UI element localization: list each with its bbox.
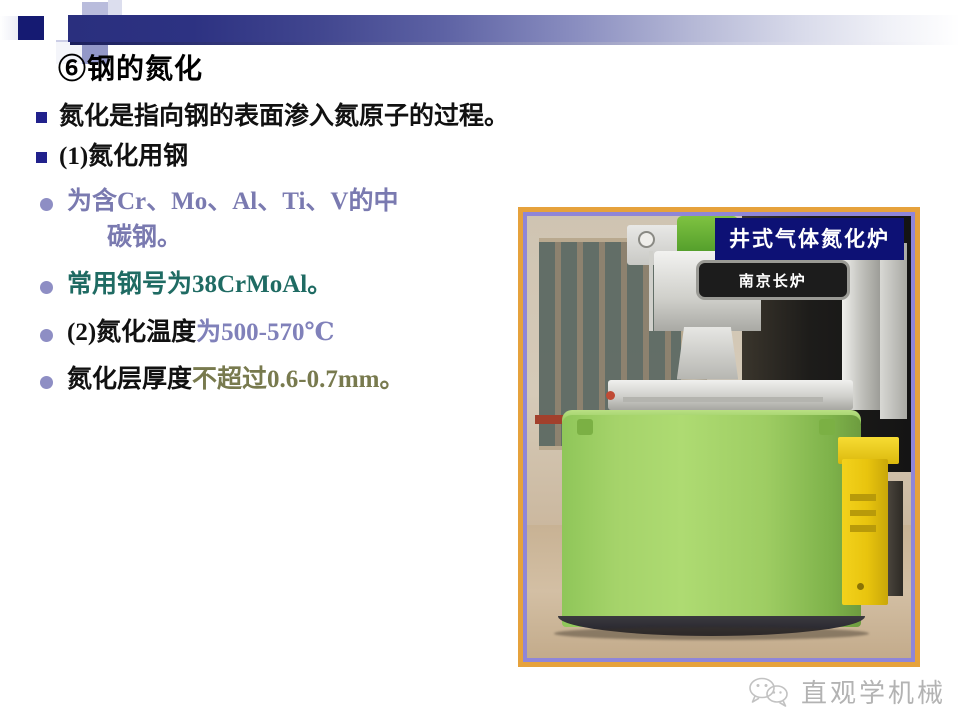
banner-gradient-bar — [68, 15, 960, 42]
bullet-text-5: (2)氮化温度为500-570℃ — [67, 315, 334, 351]
bullet-item-4: 常用钢号为38CrMoAl。 — [0, 267, 520, 303]
bullet-text-5-part-b: 为500-570℃ — [196, 319, 334, 346]
bullet-item-2: (1)氮化用钢 — [0, 139, 520, 175]
furnace-head-cone — [677, 327, 738, 380]
furnace-lid-arm — [623, 397, 823, 402]
pressure-gauge-stem — [649, 251, 653, 331]
cabinet-vent — [850, 494, 877, 500]
round-bullet-icon — [40, 376, 53, 389]
bullet-text-3-continuation: 碳钢。 — [107, 220, 520, 256]
wechat-bubbles-icon — [747, 675, 791, 709]
banner-square-gap — [44, 16, 68, 40]
slide-body: ⑥钢的氮化 氮化是指向钢的表面渗入氮原子的过程。 (1)氮化用钢 为含Cr、Mo… — [0, 52, 520, 398]
bullet-text-6: 氮化层厚度不超过0.6-0.7mm。 — [67, 362, 405, 398]
bullet-item-5: (2)氮化温度为500-570℃ — [0, 315, 520, 351]
machine-nameplate: 南京长炉 — [696, 260, 850, 300]
bullet-item-1: 氮化是指向钢的表面渗入氮原子的过程。 — [0, 99, 520, 135]
bullet-text-3: 为含Cr、Mo、Al、Ti、V的中 — [67, 184, 398, 220]
watermark-text: 直观学机械 — [801, 673, 946, 710]
bullet-text-2: (1)氮化用钢 — [59, 139, 188, 175]
round-bullet-icon — [40, 329, 53, 342]
watermark: 直观学机械 — [747, 673, 946, 710]
round-bullet-icon — [40, 198, 53, 211]
round-bullet-icon — [40, 281, 53, 294]
banner-square-fade — [0, 16, 18, 40]
bullet-text-4: 常用钢号为38CrMoAl。 — [67, 267, 332, 303]
furnace-body — [562, 415, 862, 627]
photo-caption-badge: 井式气体氮化炉 — [715, 218, 904, 260]
furnace-photo: 南京长炉 — [527, 216, 911, 658]
photo-inner-border: 南京长炉 — [523, 212, 915, 662]
photo-frame: 南京长炉 — [518, 207, 920, 667]
bullet-text-6-part-a: 氮化层厚度 — [67, 366, 192, 393]
page-title: ⑥钢的氮化 — [58, 52, 520, 87]
gantry-column-far-right — [880, 243, 907, 420]
square-bullet-icon — [36, 112, 47, 123]
bullet-text-1: 氮化是指向钢的表面渗入氮原子的过程。 — [59, 99, 509, 135]
furnace-lug-left — [577, 419, 593, 435]
banner-gradient-shadow — [70, 42, 960, 45]
banner-square-navy — [18, 16, 44, 40]
bullet-item-6: 氮化层厚度不超过0.6-0.7mm。 — [0, 362, 520, 398]
bullet-item-3: 为含Cr、Mo、Al、Ti、V的中 — [0, 184, 520, 220]
cabinet-vent — [850, 510, 877, 516]
furnace-lid-flange — [608, 380, 854, 411]
red-knob-icon — [606, 391, 615, 400]
bullet-text-5-part-a: (2)氮化温度 — [67, 319, 196, 346]
slide-canvas: ⑥钢的氮化 氮化是指向钢的表面渗入氮原子的过程。 (1)氮化用钢 为含Cr、Mo… — [0, 0, 960, 720]
furnace-lug-right — [819, 419, 835, 435]
banner-square-tiny — [108, 0, 122, 16]
square-bullet-icon — [36, 152, 47, 163]
control-cabinet — [842, 459, 888, 605]
slide-header-banner — [0, 0, 960, 60]
cabinet-vent — [850, 525, 877, 531]
bullet-text-6-part-b: 不超过0.6-0.7mm。 — [192, 366, 404, 393]
